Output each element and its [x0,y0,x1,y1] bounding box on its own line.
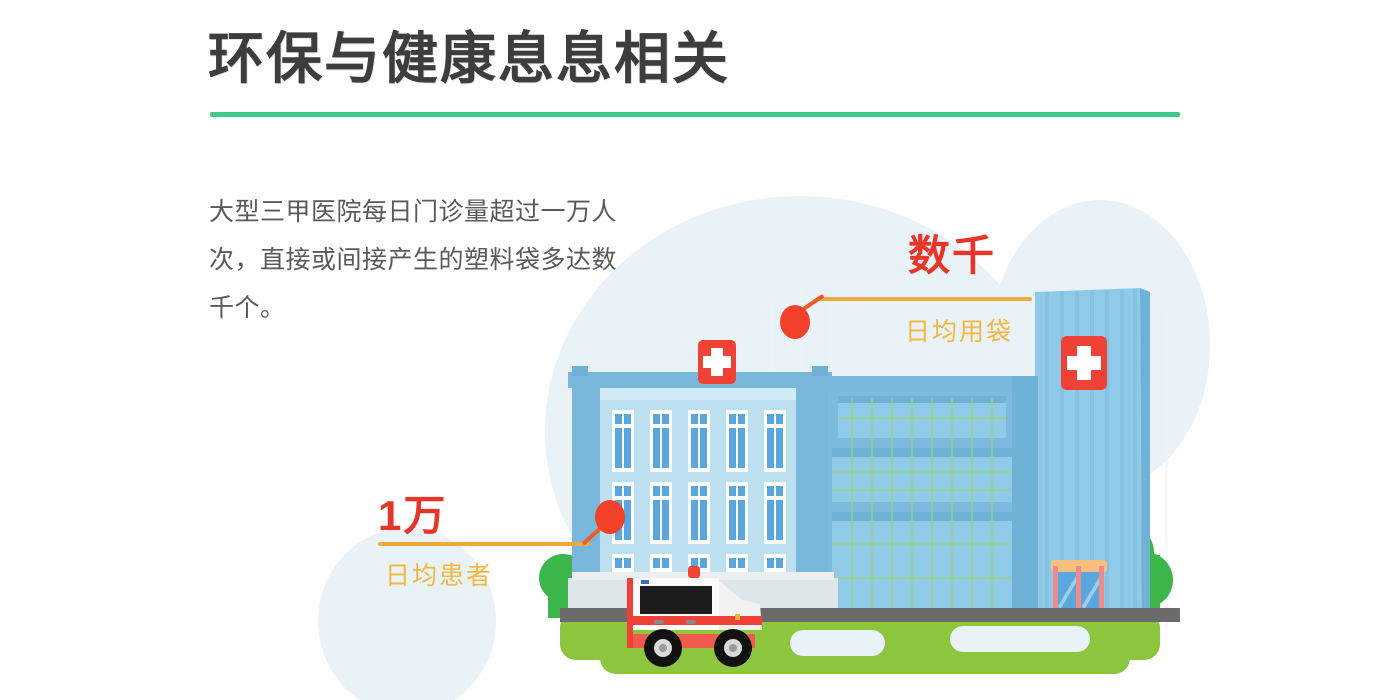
callout-patients: 1万 日均患者 [378,482,638,602]
callout-patients-value: 1万 [378,482,447,543]
callout-patients-label: 日均患者 [385,556,493,592]
callout-patients-marker-dot [595,500,625,534]
callout-patients-rule [378,542,590,546]
hospital-campus-illustration [0,0,1400,700]
red-cross-sign-tower [1061,336,1107,390]
callout-bags-marker-dot [780,305,810,339]
mid-rise-glass-building [828,376,1038,614]
infographic-slide: 环保与健康息息相关 大型三甲医院每日门诊量超过一万人次，直接或间接产生的塑料袋多… [0,0,1400,700]
callout-bags-value: 数千 [908,222,996,283]
callout-bags-rule [818,297,1032,301]
tower-entrance-awning [1051,560,1107,614]
callout-bags-label: 日均用袋 [905,312,1013,348]
red-cross-sign-roof [698,340,736,384]
callout-bags: 数千 日均用袋 [780,222,1110,342]
